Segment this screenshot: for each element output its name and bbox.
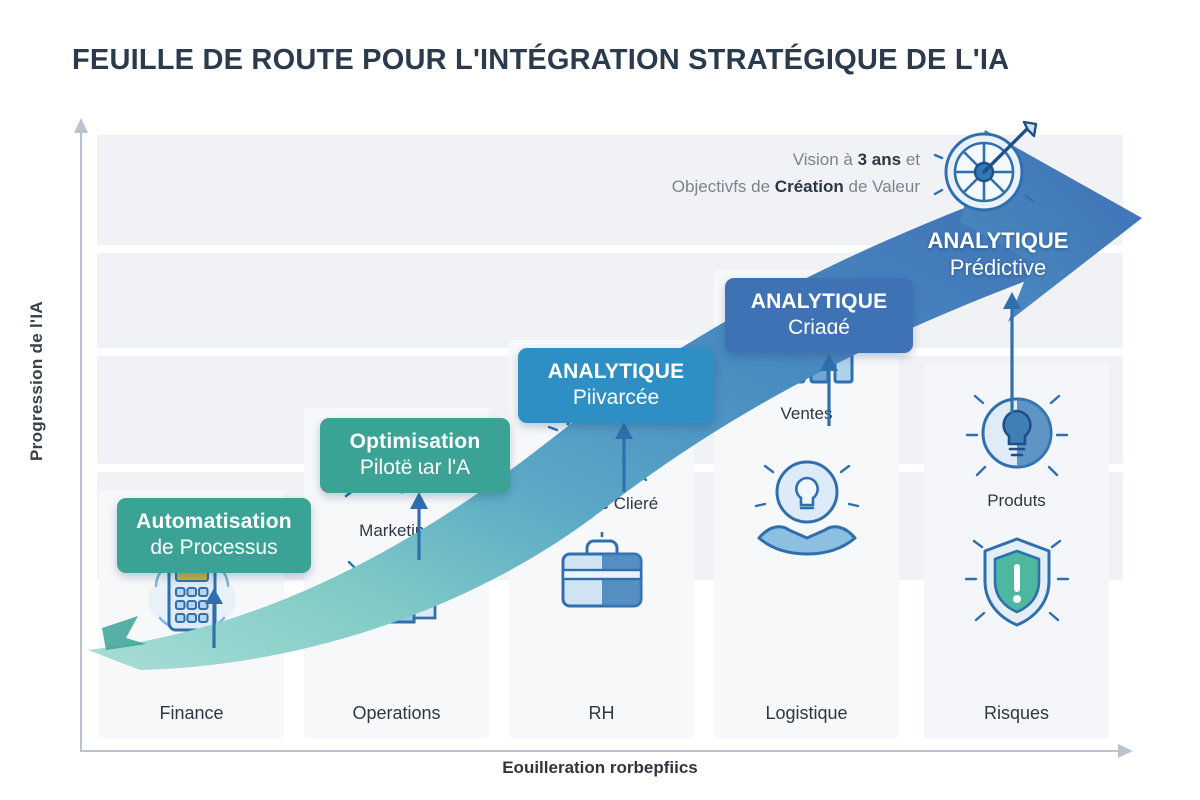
infographic-canvas: FEUILLE DE ROUTE POUR L'INTÉGRATION STRA… xyxy=(0,0,1200,800)
hands-idea-icon xyxy=(749,448,865,563)
vision-line-2: Objectivfs de Création de Valeur xyxy=(560,173,920,200)
ai-target-brain-icon xyxy=(932,118,1040,227)
briefcase-icon xyxy=(551,532,653,623)
stage-5-line1: ANALYTIQUE xyxy=(900,228,1096,255)
column-sublabel-ventes: Ventes xyxy=(714,404,899,424)
column-label-rh: RH xyxy=(509,703,694,724)
stage-2-line1: Optimisation xyxy=(330,429,500,455)
column-label-risques: Risques xyxy=(924,703,1109,724)
vision-annotation: Vision à 3 ans et Objectivfs de Création… xyxy=(560,146,920,200)
team-icon xyxy=(347,556,447,645)
stage-badge-analytique-avancee[interactable]: ANALYTIQUE Piivarcée xyxy=(518,348,714,423)
stage-2-line2: Pilotë ɩar l'A xyxy=(330,455,500,481)
x-axis-line xyxy=(80,750,1120,752)
stage-badge-analytique-ciblee[interactable]: ANALYTIQUE Criaɑé xyxy=(725,278,913,353)
stage-badge-automatisation[interactable]: Automatisation de Processus xyxy=(117,498,311,573)
stage-label-analytique-predictive[interactable]: ANALYTIQUE Prédictive xyxy=(900,228,1096,282)
stage-3-line2: Piivarcée xyxy=(528,385,704,411)
stage-5-line2: Prédictive xyxy=(900,255,1096,282)
stage-4-line2: Criaɑé xyxy=(735,315,903,341)
y-axis-label: Progression de l'IA xyxy=(27,231,47,531)
column-label-finance: Finance xyxy=(99,703,284,724)
stage-4-line1: ANALYTIQUE xyxy=(735,289,903,315)
lightbulb-globe-icon xyxy=(965,383,1069,488)
column-produits-risques[interactable]: Produts Risques xyxy=(924,363,1109,738)
column-label-operations: Operations xyxy=(304,703,489,724)
x-axis-label: Eouilleration rorbepfiics xyxy=(300,758,900,778)
page-title: FEUILLE DE ROUTE POUR L'INTÉGRATION STRA… xyxy=(72,44,1132,77)
shield-alert-icon xyxy=(964,531,1070,640)
column-label-logistique: Logistique xyxy=(714,703,899,724)
stage-1-line1: Automatisation xyxy=(127,509,301,535)
y-axis-arrowhead-icon xyxy=(74,118,88,133)
stage-badge-optimisation[interactable]: Optimisation Pilotë ɩar l'A xyxy=(320,418,510,493)
x-axis-arrowhead-icon xyxy=(1118,744,1133,758)
y-axis-line xyxy=(80,132,82,752)
column-sublabel-marketing: Marketing xyxy=(304,521,489,541)
stage-1-line2: de Processus xyxy=(127,535,301,561)
column-sublabel-analyse-client: Analyice Clieré xyxy=(509,494,694,514)
column-sublabel-produits: Produts xyxy=(924,491,1109,511)
vision-line-1: Vision à 3 ans et xyxy=(793,150,920,169)
stage-3-line1: ANALYTIQUE xyxy=(528,359,704,385)
